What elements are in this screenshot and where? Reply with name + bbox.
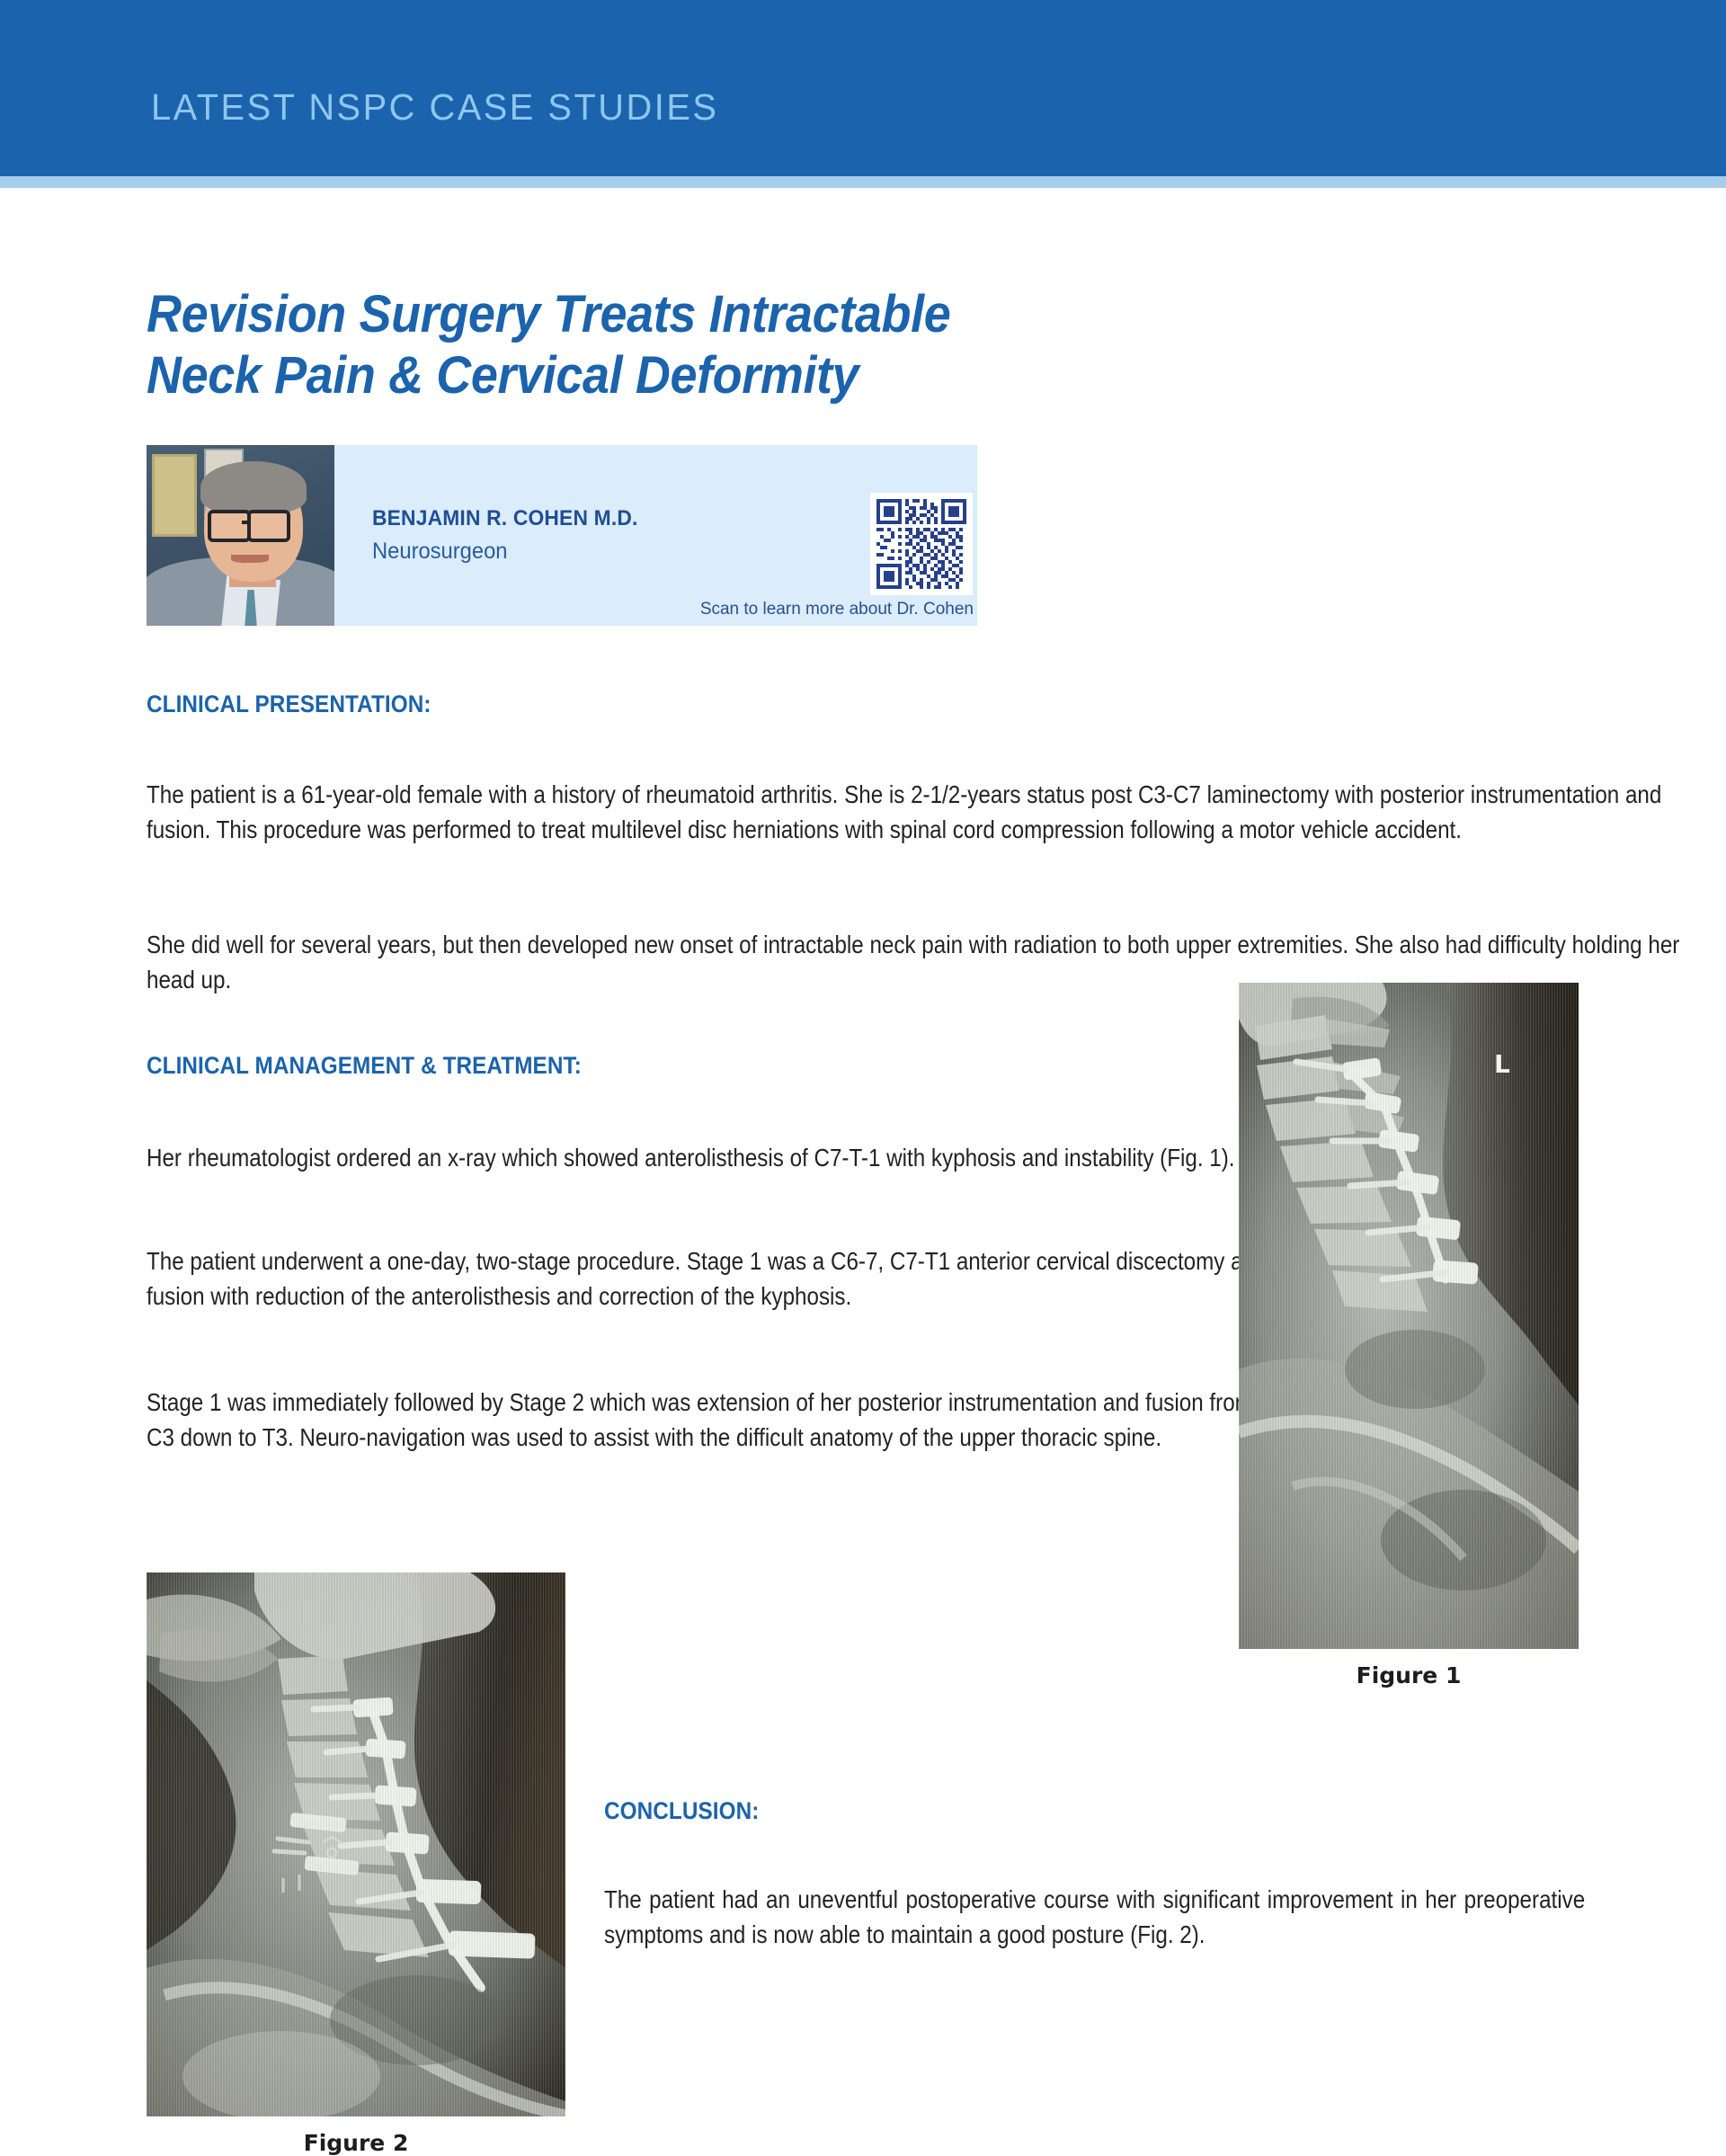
qr-code-icon[interactable] bbox=[876, 499, 966, 589]
author-portrait-photo bbox=[147, 445, 334, 626]
page-title-line-2: Neck Pain & Cervical Deformity bbox=[147, 345, 1334, 406]
page-title-line-1: Revision Surgery Treats Intractable bbox=[147, 284, 1334, 345]
portrait-mouth bbox=[231, 555, 269, 563]
figure-1-caption: Figure 1 bbox=[1239, 1662, 1579, 1688]
section-heading-conclusion: CONCLUSION: bbox=[604, 1797, 759, 1825]
page-header-banner: LATEST NSPC CASE STUDIES bbox=[0, 0, 1726, 176]
author-name: BENJAMIN R. COHEN M.D. bbox=[372, 506, 638, 531]
figure-2: Figure 2 bbox=[147, 1572, 565, 2116]
paragraph-management-3: Stage 1 was immediately followed by Stag… bbox=[147, 1385, 1286, 1455]
portrait-hair bbox=[200, 461, 307, 513]
xray-cervical-spine-postop bbox=[147, 1572, 565, 2116]
banner-accent-stripe bbox=[0, 176, 1726, 188]
author-card: BENJAMIN R. COHEN M.D. Neurosurgeon bbox=[147, 445, 977, 626]
page-title: Revision Surgery Treats Intractable Neck… bbox=[147, 284, 1334, 406]
paragraph-management-2: The patient underwent a one-day, two-sta… bbox=[147, 1243, 1286, 1314]
banner-title: LATEST NSPC CASE STUDIES bbox=[151, 86, 718, 129]
paragraph-presentation-1: The patient is a 61-year-old female with… bbox=[147, 777, 1721, 847]
paragraph-management-1: Her rheumatologist ordered an x-ray whic… bbox=[147, 1140, 1286, 1175]
qr-code-container[interactable] bbox=[870, 493, 973, 595]
figure-1-xray-image: L bbox=[1239, 983, 1579, 1649]
section-heading-clinical-management: CLINICAL MANAGEMENT & TREATMENT: bbox=[147, 1052, 582, 1080]
portrait-eyeglass-left bbox=[208, 510, 251, 542]
portrait-eyeglass-right bbox=[247, 510, 290, 542]
figure-2-caption: Figure 2 bbox=[147, 2130, 565, 2156]
qr-caption: Scan to learn more about Dr. Cohen bbox=[663, 600, 974, 619]
figure-1: L Figure 1 bbox=[1239, 983, 1579, 1649]
section-heading-clinical-presentation: CLINICAL PRESENTATION: bbox=[147, 690, 431, 718]
paragraph-conclusion-1: The patient had an uneventful postoperat… bbox=[604, 1882, 1585, 1952]
portrait-wall-frame-1 bbox=[152, 454, 197, 537]
xray-cervical-spine-preop bbox=[1239, 983, 1579, 1649]
portrait-eyeglass-bridge bbox=[242, 521, 249, 524]
author-role: Neurosurgeon bbox=[372, 539, 508, 565]
figure-2-xray-image bbox=[147, 1572, 565, 2116]
figure-1-laterality-marker: L bbox=[1494, 1049, 1510, 1079]
